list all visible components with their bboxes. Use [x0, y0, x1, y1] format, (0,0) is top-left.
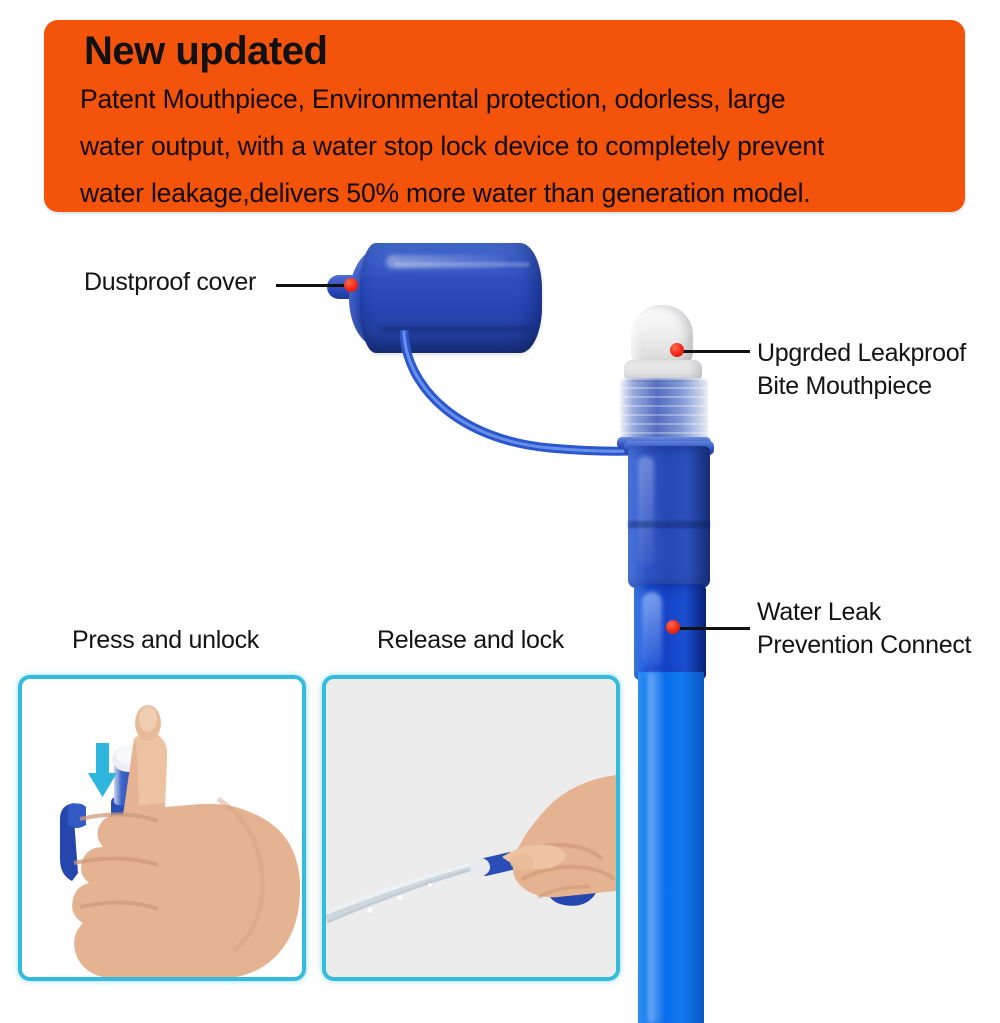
callout-bite-mouthpiece: Upgrded Leakproof Bite Mouthpiece	[757, 337, 966, 403]
photo-panel-release-and-lock	[322, 675, 620, 981]
caption-press-and-unlock: Press and unlock	[72, 626, 259, 655]
banner-line-3: water leakage,delivers 50% more water th…	[80, 170, 945, 217]
mouthpiece-blue-body	[628, 446, 710, 588]
banner-line-1: Patent Mouthpiece, Environmental protect…	[80, 76, 945, 123]
banner-line-2: water output, with a water stop lock dev…	[80, 123, 945, 170]
leader-line-connect	[676, 627, 750, 630]
headline-banner: New updated Patent Mouthpiece, Environme…	[44, 20, 965, 212]
mouthpiece-body-groove	[628, 521, 710, 528]
release-and-lock-illustration	[326, 679, 616, 977]
caption-release-and-lock: Release and lock	[377, 626, 564, 655]
callout-dustproof-cover: Dustproof cover	[84, 266, 256, 299]
drinking-hose	[638, 672, 704, 1023]
banner-description: Patent Mouthpiece, Environmental protect…	[80, 76, 945, 217]
press-and-unlock-illustration	[22, 679, 302, 977]
product-infographic: New updated Patent Mouthpiece, Environme…	[0, 0, 1000, 1023]
bite-valve	[631, 305, 693, 367]
callout-connect-line-1: Water Leak	[757, 596, 971, 629]
marker-dot-connect	[666, 620, 680, 634]
marker-dot-dustproof	[344, 278, 358, 292]
callout-leak-connect: Water Leak Prevention Connect	[757, 596, 971, 662]
clear-ribbed-barrel	[620, 378, 708, 444]
callout-mouthpiece-line-1: Upgrded Leakproof	[757, 337, 966, 370]
marker-dot-mouthpiece	[670, 343, 684, 357]
callout-mouthpiece-line-2: Bite Mouthpiece	[757, 370, 966, 403]
callout-connect-line-2: Prevention Connect	[757, 629, 971, 662]
banner-title: New updated	[84, 28, 945, 74]
leader-line-mouthpiece	[680, 350, 750, 353]
callout-dustproof-line-1: Dustproof cover	[84, 266, 256, 299]
photo-panel-press-and-unlock	[18, 675, 306, 981]
leader-line-dustproof	[276, 284, 350, 287]
cover-highlight-seam	[394, 262, 530, 267]
